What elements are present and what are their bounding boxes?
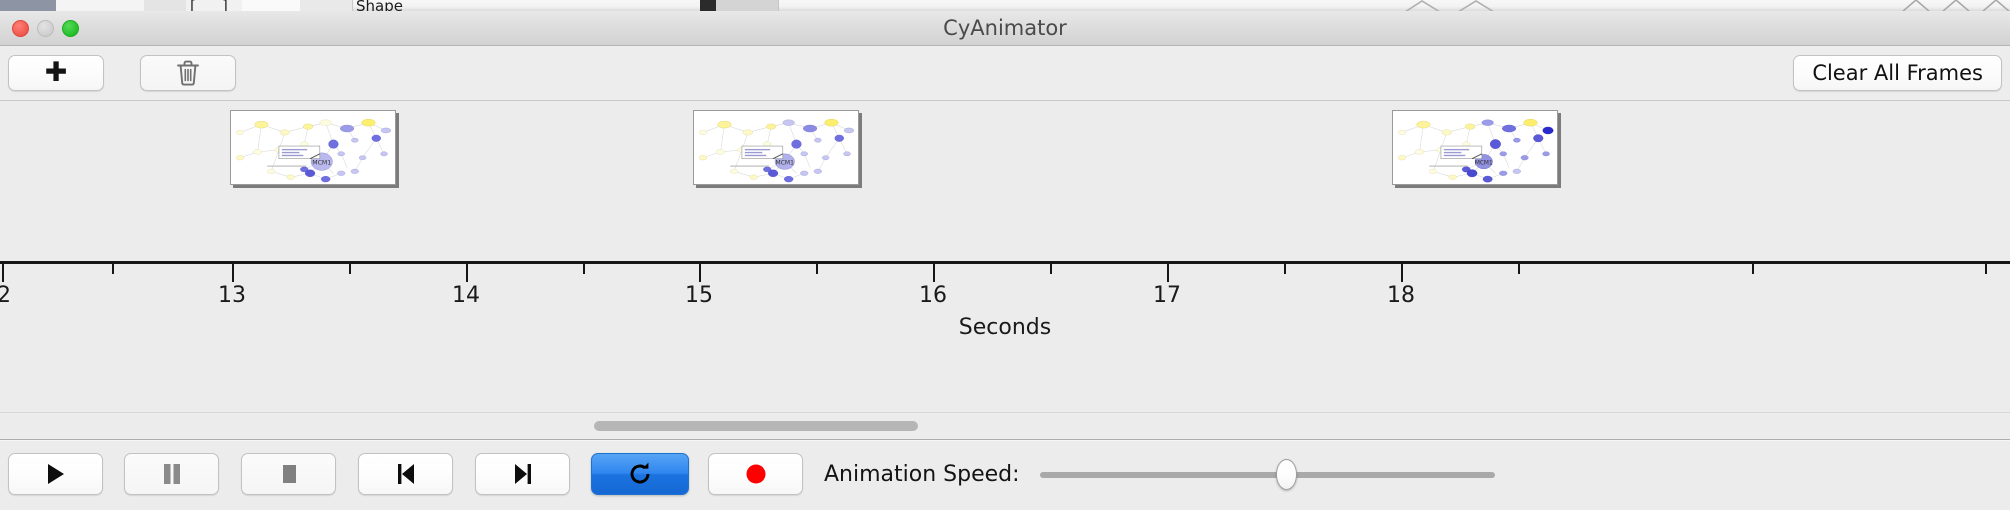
background-segment — [716, 0, 779, 11]
next-frame-button[interactable] — [475, 453, 570, 495]
plus-icon: ✚ — [45, 59, 68, 86]
axis-tick-label: 13 — [218, 283, 246, 308]
background-segment — [144, 0, 187, 11]
stop-button[interactable] — [241, 453, 336, 495]
desktop-background-strip: [ ] Shape — [0, 0, 2010, 11]
axis-tick-major — [933, 264, 935, 282]
axis-tick-minor — [816, 264, 818, 274]
timeline-scroll-thumb[interactable] — [594, 421, 918, 431]
loop-icon — [627, 461, 653, 487]
frame-thumbnail[interactable]: MCM1 — [693, 110, 859, 185]
axis-tick-label: 17 — [1153, 283, 1181, 308]
network-graph-preview: MCM1 — [231, 111, 395, 184]
skip-forward-icon — [511, 462, 535, 486]
add-frame-button[interactable]: ✚ — [8, 55, 104, 91]
axis-tick-major — [2, 264, 4, 282]
axis-tick-label: 14 — [452, 283, 480, 308]
axis-tick-minor — [583, 264, 585, 274]
axis-tick-label: 2 — [0, 283, 11, 308]
axis-tick-minor — [349, 264, 351, 274]
axis-tick-minor — [1985, 264, 1987, 274]
previous-frame-button[interactable] — [358, 453, 453, 495]
cyanimator-window: CyAnimator ✚ Clear All Frames — [0, 11, 2010, 510]
slider-track[interactable] — [1040, 472, 1495, 478]
animation-speed-slider[interactable] — [1040, 472, 1495, 478]
axis-tick-major — [466, 264, 468, 282]
timeline-panel: MCM1 — [0, 101, 2010, 439]
play-icon — [45, 462, 67, 486]
trash-icon — [175, 59, 201, 87]
svg-text:MCM1: MCM1 — [776, 160, 795, 167]
frames-layer: MCM1 — [0, 101, 2010, 261]
background-segment — [214, 0, 243, 11]
background-network-lines — [1400, 0, 1520, 11]
axis-tick-minor — [112, 264, 114, 274]
record-icon — [744, 462, 768, 486]
pause-button[interactable] — [124, 453, 219, 495]
axis-tick-minor — [1518, 264, 1520, 274]
axis-tick-label: 15 — [685, 283, 713, 308]
skip-back-icon — [394, 462, 418, 486]
frames-toolbar: ✚ Clear All Frames — [0, 46, 2010, 101]
axis-tick-major — [232, 264, 234, 282]
clear-all-frames-button[interactable]: Clear All Frames — [1793, 55, 2002, 91]
axis-tick-minor — [1752, 264, 1754, 274]
window-title: CyAnimator — [0, 11, 2010, 45]
axis-tick-major — [699, 264, 701, 282]
transport-bar: Animation Speed: — [0, 439, 2010, 510]
loop-button[interactable] — [591, 453, 689, 495]
timeline-scrollbar[interactable] — [0, 412, 2010, 439]
pause-icon — [161, 462, 183, 486]
frame-thumbnail[interactable]: MCM1 — [1392, 110, 1558, 185]
background-bracket-glyph: [ — [190, 0, 196, 11]
background-segment — [56, 0, 145, 11]
svg-text:MCM1: MCM1 — [1475, 161, 1493, 167]
network-graph-preview: MCM1 — [1393, 111, 1557, 184]
axis-line — [0, 261, 2010, 264]
axis-tick-major — [1401, 264, 1403, 282]
play-button[interactable] — [8, 453, 103, 495]
window-titlebar: CyAnimator — [0, 11, 2010, 46]
background-chip — [0, 0, 57, 11]
svg-text:MCM1: MCM1 — [312, 160, 331, 167]
background-network-lines — [1900, 0, 2010, 11]
axis-tick-label: 16 — [919, 283, 947, 308]
background-app-text: Shape — [356, 0, 403, 11]
timeline-axis: 2 13 14 15 16 17 18 Seconds — [0, 261, 2010, 351]
delete-frame-button[interactable] — [140, 55, 236, 91]
network-graph-preview: MCM1 — [694, 111, 858, 184]
slider-thumb[interactable] — [1276, 459, 1297, 490]
animation-speed-label: Animation Speed: — [824, 462, 1020, 487]
background-segment — [300, 0, 353, 11]
axis-tick-major — [1167, 264, 1169, 282]
axis-tick-minor — [1050, 264, 1052, 274]
axis-tick-label: 18 — [1387, 283, 1415, 308]
frame-thumbnail[interactable]: MCM1 — [230, 110, 396, 185]
axis-tick-minor — [1284, 264, 1286, 274]
stop-icon — [278, 462, 300, 486]
axis-title: Seconds — [0, 315, 2010, 340]
background-bracket-glyph: ] — [222, 0, 228, 11]
record-button[interactable] — [708, 453, 803, 495]
background-marker — [700, 0, 716, 11]
background-segment — [242, 0, 301, 11]
